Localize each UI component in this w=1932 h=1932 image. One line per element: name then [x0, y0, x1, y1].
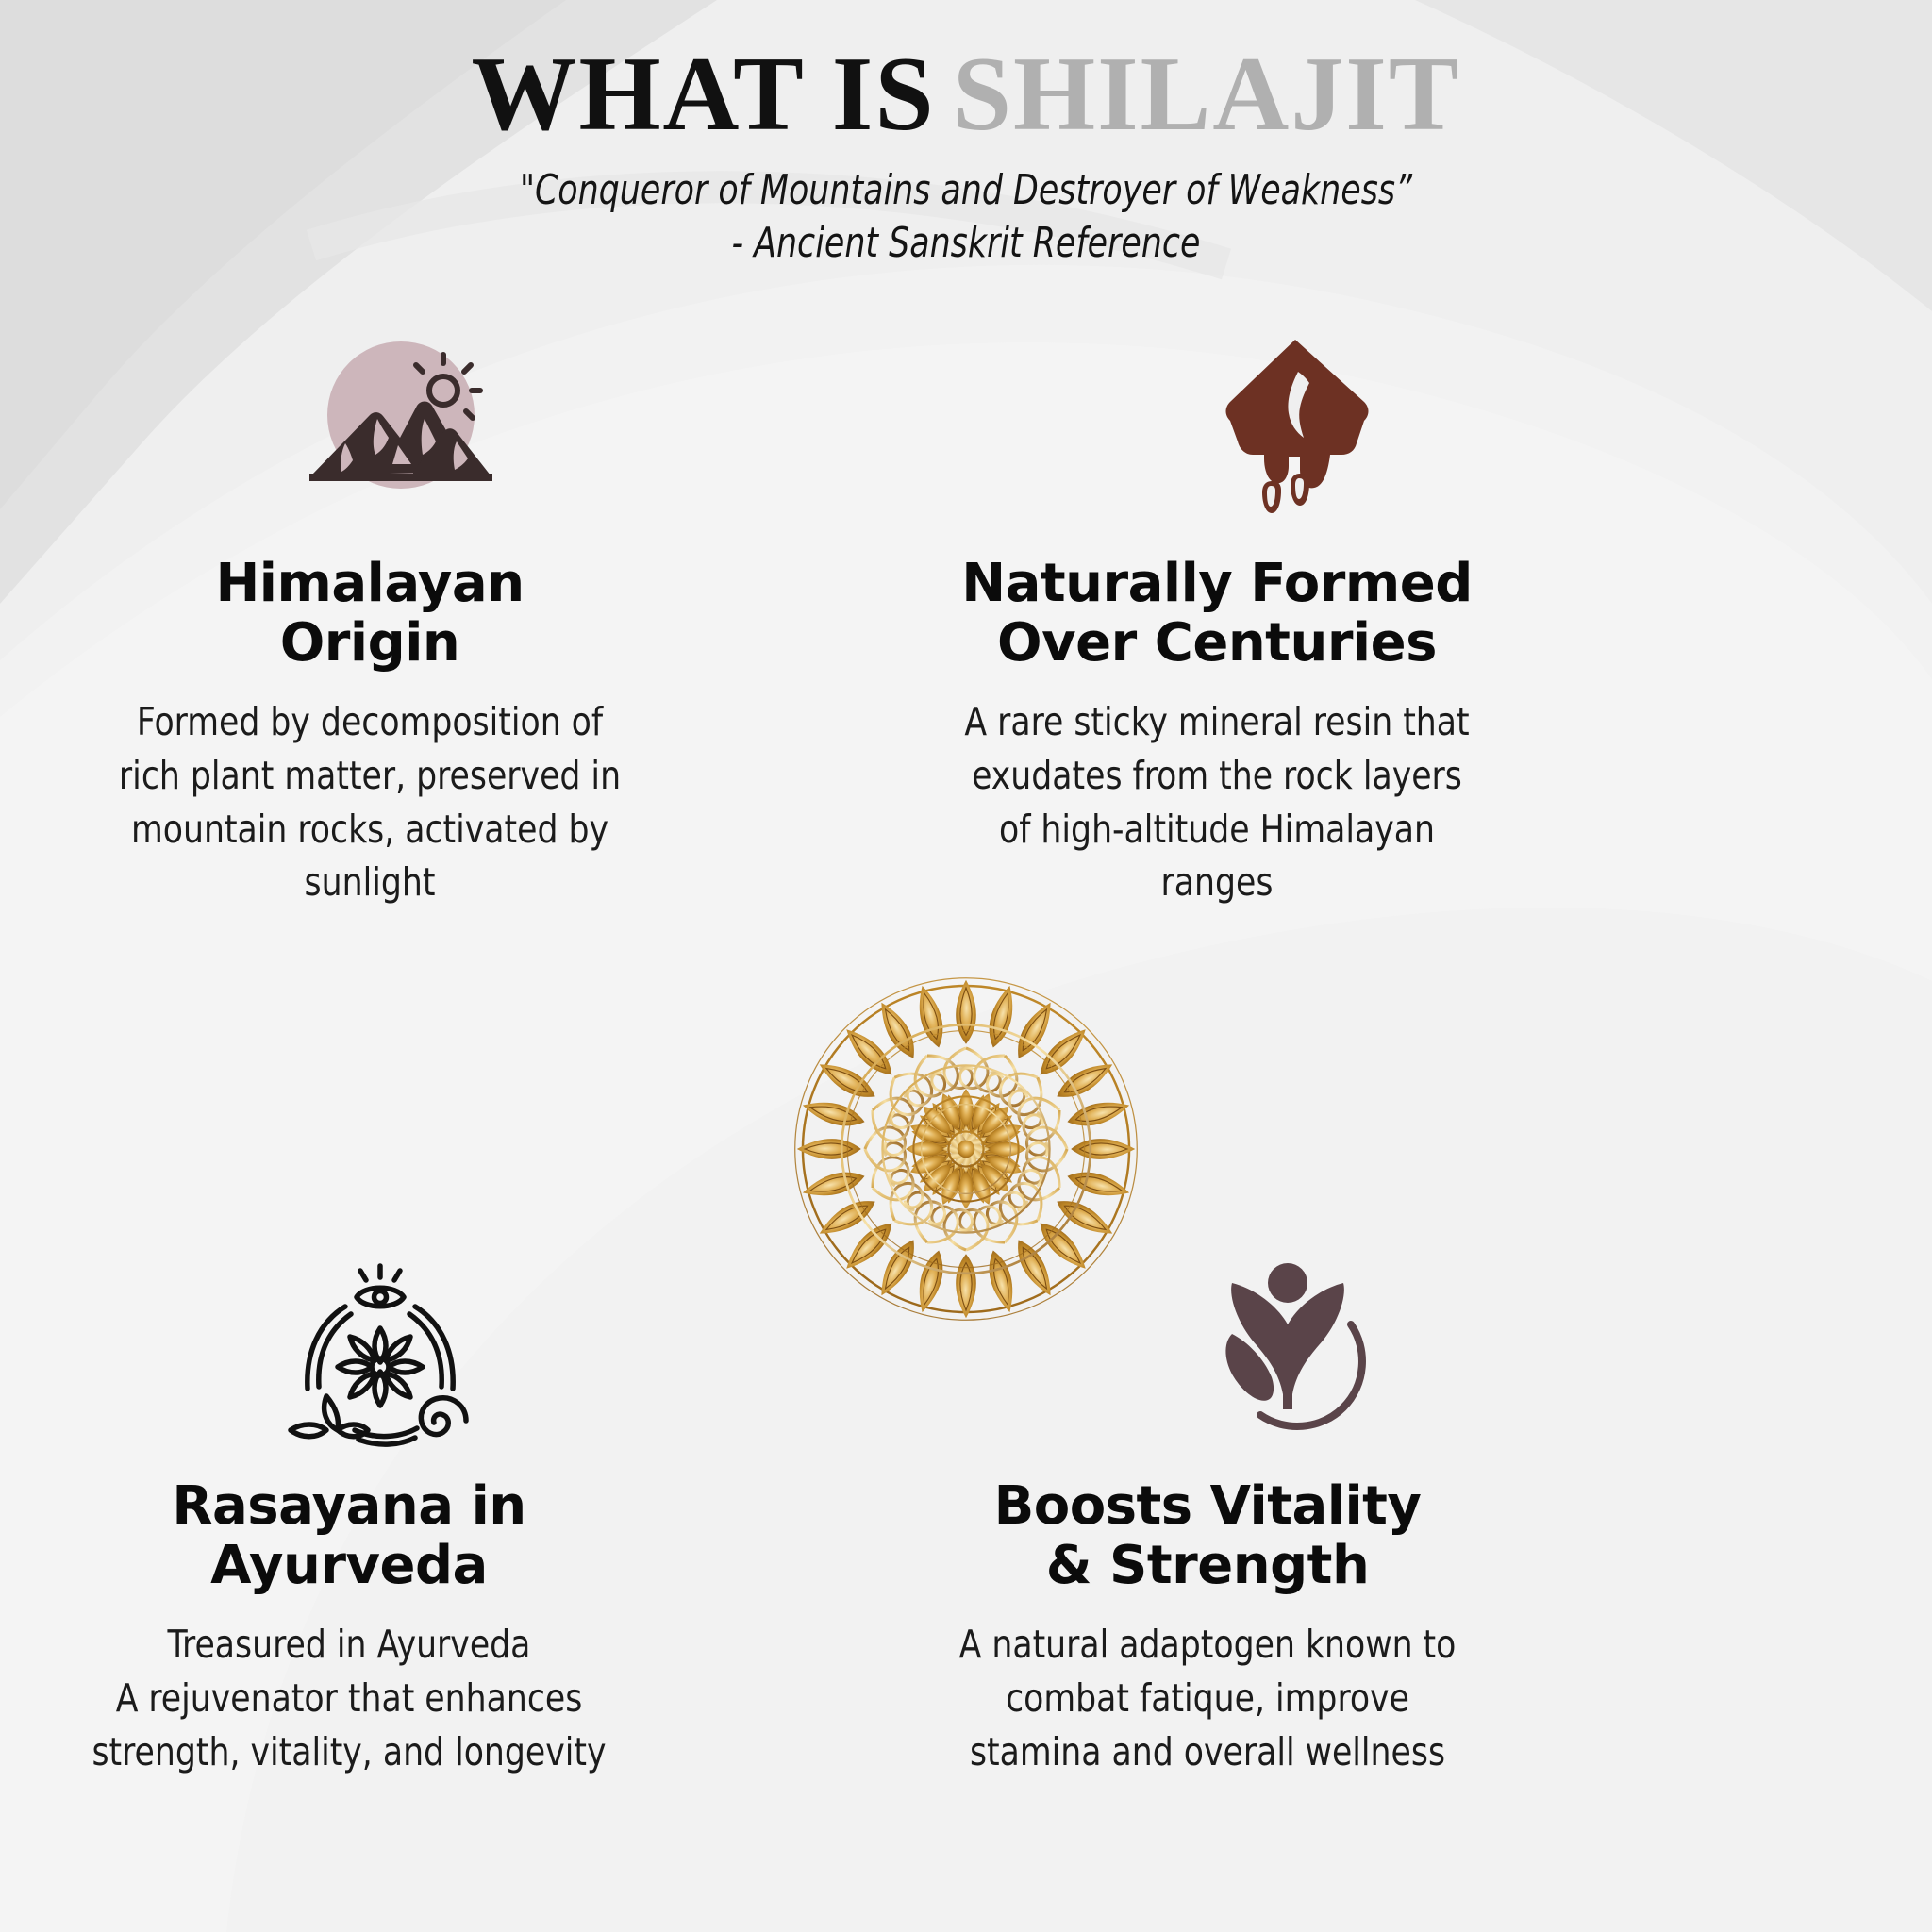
card-rasayana-ayurveda: Rasayana in Ayurveda Treasured in Ayurve…	[28, 1255, 670, 1778]
card-body-line: Treasured in Ayurveda	[47, 1618, 650, 1672]
card-title: Himalayan Origin	[49, 555, 691, 673]
card-title-line-1: Naturally Formed	[915, 555, 1519, 614]
ayurveda-lotus-eye-icon	[281, 1255, 479, 1453]
card-body-line: A natural adaptogen known to	[897, 1618, 1518, 1672]
card-title-line-1: Boosts Vitality	[906, 1477, 1509, 1537]
card-body: Formed by decomposition of rich plant ma…	[68, 695, 671, 908]
card-title-line-1: Rasayana in	[66, 1477, 632, 1537]
card-body-line: Formed by decomposition of	[68, 695, 671, 749]
resin-drip-icon	[1198, 332, 1396, 530]
card-body-line: mountain rocks, activated by	[68, 803, 671, 857]
card-body-line: ranges	[907, 856, 1527, 909]
card-body: A rare sticky mineral resin that exudate…	[907, 695, 1527, 908]
card-title: Boosts Vitality & Strength	[877, 1477, 1538, 1595]
card-title: Rasayana in Ayurveda	[28, 1477, 670, 1595]
card-body-line: A rejuvenator that enhances	[47, 1672, 650, 1725]
card-title: Naturally Formed Over Centuries	[887, 555, 1547, 673]
card-title-line-2: Origin	[87, 614, 653, 674]
card-body-line: sunlight	[68, 856, 671, 909]
card-body-line: stamina and overall wellness	[897, 1725, 1518, 1779]
card-body-line: rich plant matter, preserved in	[68, 749, 671, 803]
card-title-line-2: Over Centuries	[915, 614, 1519, 674]
card-body-line: exudates from the rock layers	[907, 749, 1527, 803]
card-title-line-2: & Strength	[906, 1537, 1509, 1596]
card-title-line-2: Ayurveda	[66, 1537, 632, 1596]
card-body-line: combat fatique, improve	[897, 1672, 1518, 1725]
card-body-line: of high-altitude Himalayan	[907, 803, 1527, 857]
card-naturally-formed: Naturally Formed Over Centuries A rare s…	[887, 332, 1547, 909]
card-title-line-1: Himalayan	[87, 555, 653, 614]
card-boosts-vitality: Boosts Vitality & Strength A natural ada…	[877, 1255, 1538, 1778]
card-body-line: strength, vitality, and longevity	[47, 1725, 650, 1779]
card-body-line: A rare sticky mineral resin that	[907, 695, 1527, 749]
card-himalayan-origin: Himalayan Origin Formed by decomposition…	[49, 332, 691, 909]
feature-grid: Himalayan Origin Formed by decomposition…	[0, 0, 1932, 1932]
card-body: A natural adaptogen known to combat fati…	[897, 1618, 1518, 1778]
mountain-sun-icon	[302, 332, 500, 530]
vitality-figure-icon	[1189, 1255, 1387, 1453]
card-body: Treasured in Ayurveda A rejuvenator that…	[47, 1618, 650, 1778]
